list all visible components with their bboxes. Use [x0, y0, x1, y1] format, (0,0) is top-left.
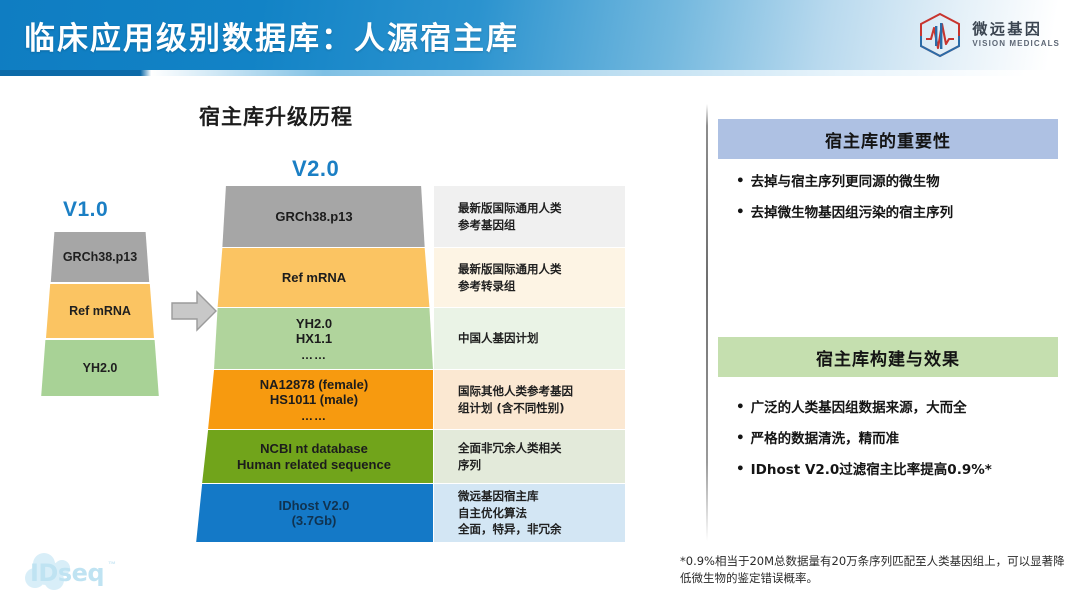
v2-row-china-genome: YH2.0 HX1.1 …… 中国人基因计划	[195, 308, 625, 369]
v2-note-grch38: 最新版国际通用人类参考基因组	[434, 186, 625, 247]
v2-row-ref-mrna: Ref mRNA 最新版国际通用人类参考转录组	[195, 248, 625, 307]
v2-pyramid: GRCh38.p13 最新版国际通用人类参考基因组 Ref mRNA 最新版国际…	[195, 186, 625, 513]
tier-line-1: YH2.0	[296, 316, 332, 331]
list-item-label: 去掉微生物基因组污染的宿主序列	[751, 204, 954, 222]
v1-tier-ref-mrna: Ref mRNA	[40, 284, 160, 338]
v2-note-international-genome: 国际其他人类参考基因组计划 (含不同性别)	[434, 370, 625, 429]
page-title: 临床应用级别数据库：人源宿主库	[24, 13, 519, 58]
brand-name-en: VISION MEDICALS	[972, 40, 1060, 49]
v2-note-ref-mrna: 最新版国际通用人类参考转录组	[434, 248, 625, 307]
tier-line-2: HX1.1	[296, 331, 332, 346]
bullet-icon: •	[736, 430, 745, 446]
list-item-label: 广泛的人类基因组数据来源，大而全	[751, 399, 967, 417]
v2-note-china-genome: 中国人基因计划	[434, 308, 625, 369]
list-item: • 严格的数据清洗，精而准	[736, 430, 1058, 448]
panel-host-db-importance: 宿主库的重要性 • 去掉与宿主序列更同源的微生物 • 去掉微生物基因组污染的宿主…	[718, 119, 1058, 251]
tier-line-2: Human related sequence	[237, 457, 391, 472]
v1-pyramid: GRCh38.p13 Ref mRNA YH2.0	[40, 232, 160, 396]
section-heading: 宿主库升级历程	[199, 101, 353, 131]
v2-tier-label-ref-mrna: Ref mRNA	[195, 248, 433, 307]
brand-logo: 微远基因 VISION MEDICALS	[915, 11, 1060, 59]
tier-line-1: IDhost V2.0	[279, 498, 350, 513]
v1-tier-grch38: GRCh38.p13	[40, 232, 160, 282]
tier-ellipsis: ……	[301, 349, 327, 361]
tier-line-2: HS1011 (male)	[270, 392, 358, 407]
v1-tier-yh2: YH2.0	[40, 340, 160, 396]
v2-tier-label-china-genome: YH2.0 HX1.1 ……	[195, 308, 433, 369]
v2-row-grch38: GRCh38.p13 最新版国际通用人类参考基因组	[195, 186, 625, 247]
list-item-label: 去掉与宿主序列更同源的微生物	[751, 173, 940, 191]
brand-text: 微远基因 VISION MEDICALS	[972, 21, 1060, 48]
panel-host-db-construction: 宿主库构建与效果 • 广泛的人类基因组数据来源，大而全 • 严格的数据清洗，精而…	[718, 337, 1058, 505]
v1-version-label: V1.0	[63, 198, 108, 222]
list-item-label: IDhost V2.0过滤宿主比率提高0.9%*	[751, 461, 992, 479]
tier-line-1: NA12878 (female)	[260, 377, 368, 392]
header-underline	[0, 70, 1080, 76]
idseq-trademark: ™	[108, 560, 116, 569]
v2-row-ncbi-nt: NCBI nt database Human related sequence …	[195, 430, 625, 483]
bullet-icon: •	[736, 173, 745, 189]
hexagon-ecg-logo-icon	[915, 12, 965, 58]
v2-note-ncbi-nt: 全面非冗余人类相关序列	[434, 430, 625, 483]
v2-row-idhost: IDhost V2.0 (3.7Gb) 微远基因宿主库自主优化算法全面，特异，非…	[195, 484, 625, 542]
list-item: • IDhost V2.0过滤宿主比率提高0.9%*	[736, 461, 1058, 479]
v2-version-label: V2.0	[292, 156, 339, 182]
tier-line-2: (3.7Gb)	[292, 513, 337, 528]
v2-tier-label-grch38: GRCh38.p13	[195, 186, 433, 247]
tier-line-1: NCBI nt database	[260, 441, 368, 456]
list-item: • 去掉微生物基因组污染的宿主序列	[736, 204, 1058, 222]
panel-heading: 宿主库的重要性	[718, 119, 1058, 159]
vertical-divider	[706, 104, 708, 541]
bullet-icon: •	[736, 461, 745, 477]
idseq-logo: IDseq ™	[22, 552, 130, 594]
bullet-icon: •	[736, 204, 745, 220]
v2-note-idhost: 微远基因宿主库自主优化算法全面，特异，非冗余	[434, 484, 625, 542]
list-item: • 广泛的人类基因组数据来源，大而全	[736, 399, 1058, 417]
v2-tier-label-international-genome: NA12878 (female) HS1011 (male) ……	[195, 370, 433, 429]
panel-heading: 宿主库构建与效果	[718, 337, 1058, 377]
tier-ellipsis: ……	[301, 410, 327, 422]
v2-tier-label-ncbi-nt: NCBI nt database Human related sequence	[195, 430, 433, 483]
tier-line-1: Ref mRNA	[282, 270, 346, 285]
v2-row-international-genome: NA12878 (female) HS1011 (male) …… 国际其他人类…	[195, 370, 625, 429]
panel-body: • 广泛的人类基因组数据来源，大而全 • 严格的数据清洗，精而准 • IDhos…	[718, 377, 1058, 505]
list-item: • 去掉与宿主序列更同源的微生物	[736, 173, 1058, 191]
list-item-label: 严格的数据清洗，精而准	[751, 430, 900, 448]
footnote: *0.9%相当于20M总数据量有20万条序列匹配至人类基因组上，可以显著降低微生…	[680, 553, 1070, 588]
v2-tier-label-idhost: IDhost V2.0 (3.7Gb)	[195, 484, 433, 542]
brand-name-cn: 微远基因	[972, 21, 1060, 38]
panel-body: • 去掉与宿主序列更同源的微生物 • 去掉微生物基因组污染的宿主序列	[718, 159, 1058, 251]
idseq-wordmark: IDseq	[30, 559, 104, 587]
bullet-icon: •	[736, 399, 745, 415]
tier-line-1: GRCh38.p13	[275, 209, 352, 224]
